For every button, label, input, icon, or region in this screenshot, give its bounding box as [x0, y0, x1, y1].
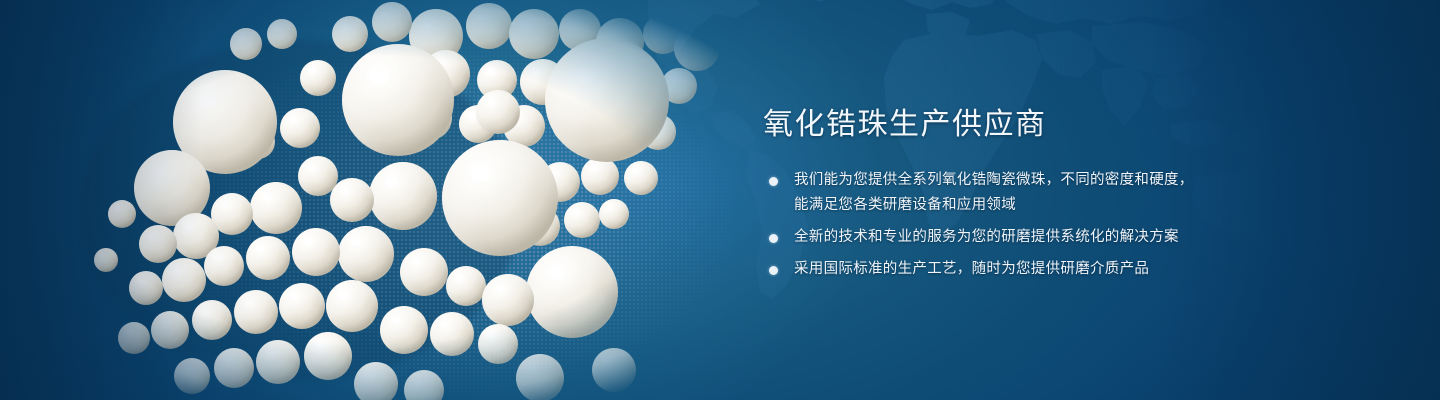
bullet-line: 能满足您各类研磨设备和应用领域: [794, 193, 1383, 218]
bullet-dot-icon: [769, 266, 778, 275]
list-item: 全新的技术和专业的服务为您的研磨提供系统化的解决方案: [763, 225, 1383, 250]
bullet-line: 我们能为您提供全系列氧化锆陶瓷微珠，不同的密度和硬度，: [794, 168, 1383, 193]
page-title: 氧化锆珠生产供应商: [763, 104, 1383, 146]
list-item: 采用国际标准的生产工艺，随时为您提供研磨介质产品: [763, 257, 1383, 282]
bullet-dot-icon: [769, 234, 778, 243]
feature-bullet-list: 我们能为您提供全系列氧化锆陶瓷微珠，不同的密度和硬度， 能满足您各类研磨设备和应…: [763, 168, 1383, 282]
hero-banner: 氧化锆珠生产供应商 我们能为您提供全系列氧化锆陶瓷微珠，不同的密度和硬度， 能满…: [0, 0, 1440, 400]
bullet-dot-icon: [769, 177, 778, 186]
bullet-line: 采用国际标准的生产工艺，随时为您提供研磨介质产品: [794, 257, 1383, 282]
bullet-line: 全新的技术和专业的服务为您的研磨提供系统化的解决方案: [794, 225, 1383, 250]
list-item: 我们能为您提供全系列氧化锆陶瓷微珠，不同的密度和硬度， 能满足您各类研磨设备和应…: [763, 168, 1383, 218]
banner-copy-block: 氧化锆珠生产供应商 我们能为您提供全系列氧化锆陶瓷微珠，不同的密度和硬度， 能满…: [763, 104, 1383, 282]
